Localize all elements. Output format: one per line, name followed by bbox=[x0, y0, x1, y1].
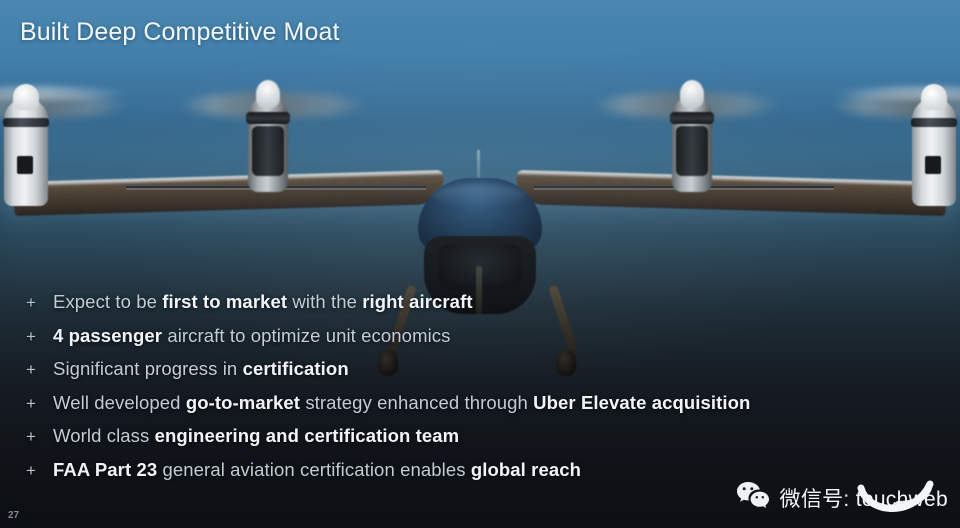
bullet-text: World class engineering and certificatio… bbox=[53, 425, 459, 447]
bullet-emphasis: 4 passenger bbox=[53, 325, 162, 346]
watermark: 微信号: touchweb bbox=[736, 481, 948, 514]
slide-title: Built Deep Competitive Moat bbox=[20, 18, 340, 47]
presentation-slide: Built Deep Competitive Moat +Expect to b… bbox=[0, 0, 960, 528]
bullet-emphasis: global reach bbox=[471, 459, 581, 480]
bullet-emphasis: engineering and certification team bbox=[155, 425, 460, 446]
bullet-emphasis: right aircraft bbox=[362, 291, 472, 312]
bullet-marker-icon: + bbox=[26, 461, 53, 481]
bullet-item: +Significant progress in certification bbox=[26, 358, 926, 392]
page-number: 27 bbox=[8, 510, 19, 521]
bullet-marker-icon: + bbox=[26, 394, 53, 414]
bullet-plain: aircraft to optimize unit economics bbox=[162, 325, 450, 346]
bullet-emphasis: certification bbox=[243, 358, 349, 379]
bullet-plain: strategy enhanced through bbox=[300, 392, 533, 413]
bullet-text: FAA Part 23 general aviation certificati… bbox=[53, 459, 581, 481]
bullet-marker-icon: + bbox=[26, 327, 53, 347]
bullet-text: 4 passenger aircraft to optimize unit ec… bbox=[53, 325, 451, 347]
bullet-plain: general aviation certification enables bbox=[157, 459, 471, 480]
bullet-text: Well developed go-to-market strategy enh… bbox=[53, 392, 750, 414]
bullet-marker-icon: + bbox=[26, 360, 53, 380]
bullet-item: +4 passenger aircraft to optimize unit e… bbox=[26, 325, 926, 359]
bullet-emphasis: FAA Part 23 bbox=[53, 459, 157, 480]
bullet-plain: Expect to be bbox=[53, 291, 162, 312]
bullet-emphasis: go-to-market bbox=[186, 392, 300, 413]
watermark-text: 微信号: touchweb bbox=[780, 483, 948, 513]
bullet-emphasis: first to market bbox=[162, 291, 287, 312]
bullet-item: +World class engineering and certificati… bbox=[26, 425, 926, 459]
bullet-plain: Significant progress in bbox=[53, 358, 243, 379]
bullet-item: +Expect to be first to market with the r… bbox=[26, 291, 926, 325]
bullet-text: Expect to be first to market with the ri… bbox=[53, 291, 473, 313]
bullet-item: +Well developed go-to-market strategy en… bbox=[26, 392, 926, 426]
bullet-marker-icon: + bbox=[26, 293, 53, 313]
bullet-plain: World class bbox=[53, 425, 155, 446]
bullet-list: +Expect to be first to market with the r… bbox=[26, 291, 926, 492]
wechat-icon bbox=[736, 481, 770, 514]
bullet-text: Significant progress in certification bbox=[53, 358, 349, 380]
bullet-plain: Well developed bbox=[53, 392, 186, 413]
bullet-emphasis: Uber Elevate acquisition bbox=[533, 392, 750, 413]
bullet-plain: with the bbox=[287, 291, 362, 312]
bullet-marker-icon: + bbox=[26, 427, 53, 447]
